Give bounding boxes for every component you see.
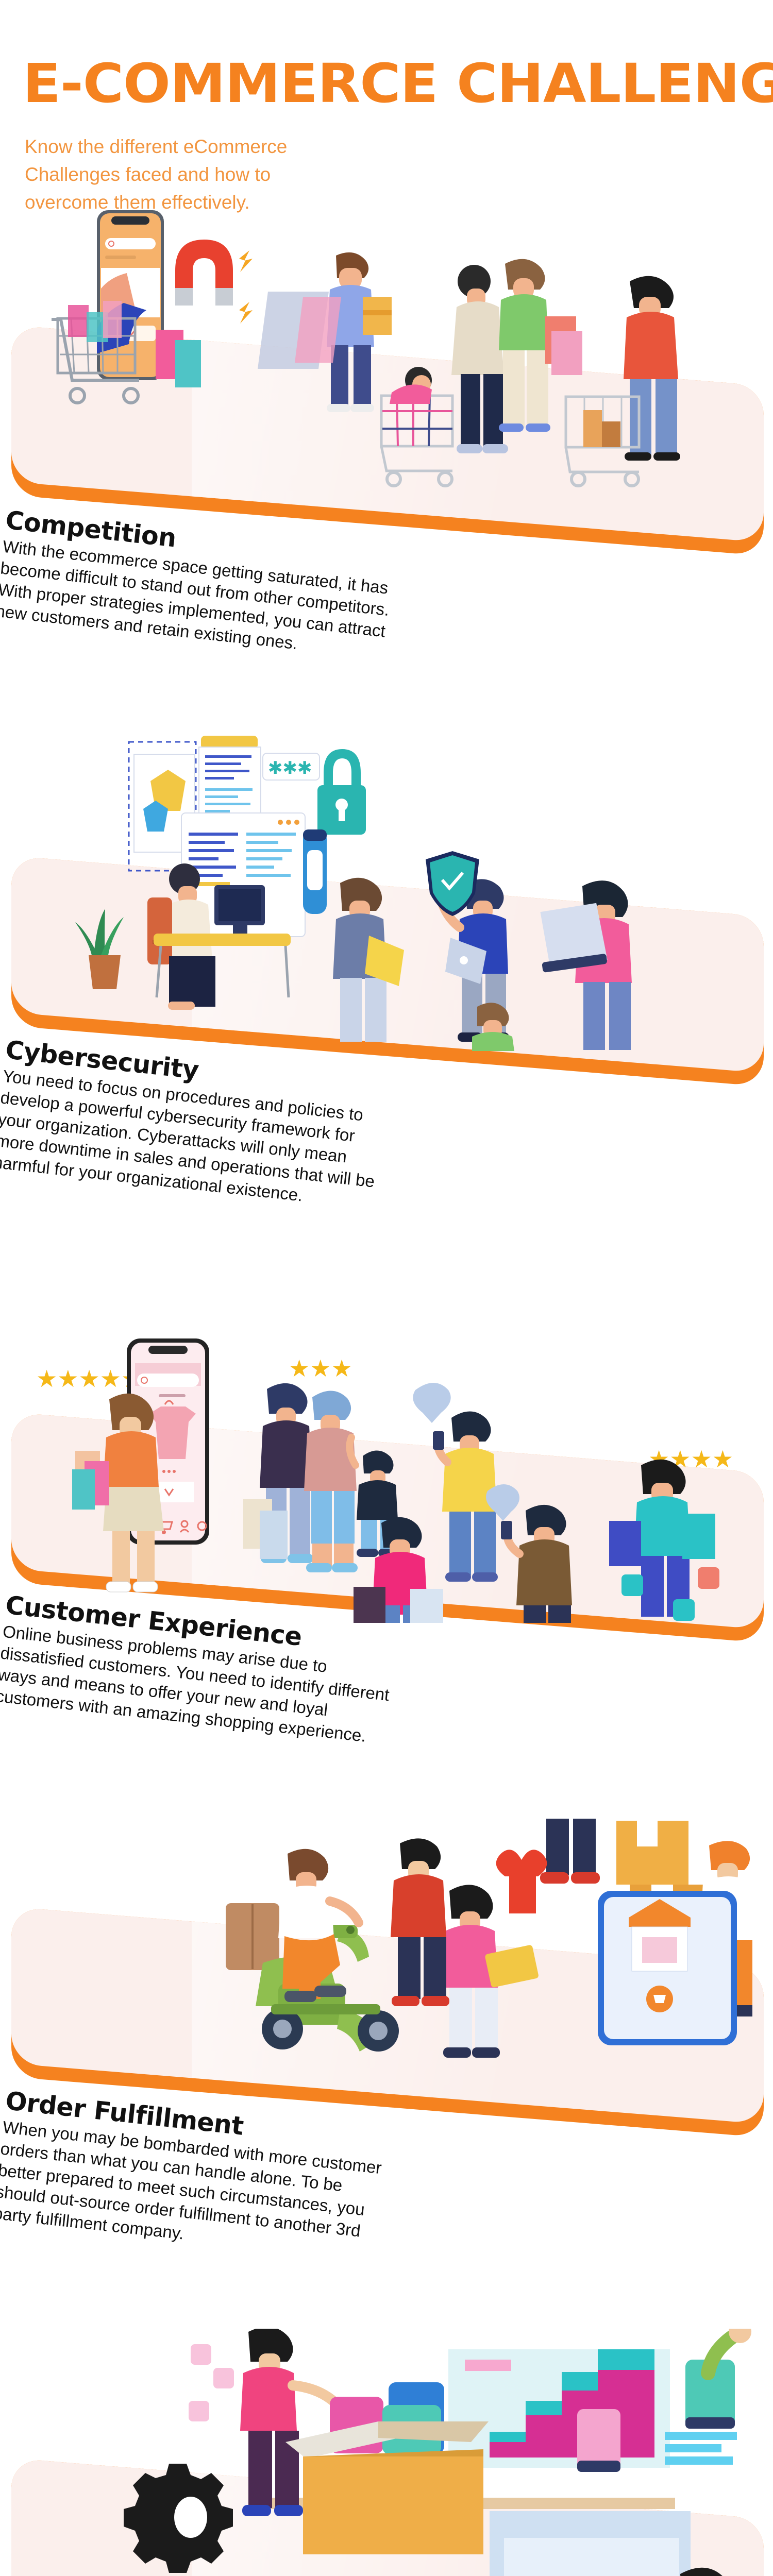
illustration-cybersecurity: ✱✱✱ xyxy=(21,732,752,1051)
person-woman-orange-cart xyxy=(566,276,680,486)
illustration-order-fulfillment xyxy=(21,1808,752,2117)
person-man-yellow xyxy=(413,1383,498,1582)
person-man-brown xyxy=(486,1484,572,1623)
person-woman-green xyxy=(499,259,582,432)
gear-icon xyxy=(124,2464,233,2573)
padlock-icon xyxy=(317,749,366,835)
magnet-icon xyxy=(175,240,253,324)
mobile-store-screen xyxy=(598,1891,737,2045)
scooter-delivery xyxy=(226,1849,399,2052)
person-man-with-parcel xyxy=(258,252,392,412)
display-panels xyxy=(490,2511,691,2576)
svg-text:★★★: ★★★ xyxy=(289,1354,352,1382)
illustration-competition xyxy=(21,191,752,520)
illustration-visibility xyxy=(21,2329,752,2576)
infographic-page: E-COMMERCE CHALLENGES Know the different… xyxy=(0,0,773,2576)
svg-text:✱✱✱: ✱✱✱ xyxy=(268,758,312,778)
person-woman-folder xyxy=(333,878,404,1042)
plant xyxy=(75,909,124,989)
decorative-squares xyxy=(189,2344,234,2421)
gift-ribbon xyxy=(496,1850,547,1913)
section-competition: Competition With the ecommerce space get… xyxy=(0,506,397,664)
person-man-boxes xyxy=(391,1838,449,2006)
password-dots: ✱✱✱ xyxy=(268,758,312,778)
person-with-parcel xyxy=(540,1819,600,1884)
person-woman-bags xyxy=(72,1394,164,1592)
star-rating-five: ★★★★★ xyxy=(36,1365,142,1393)
person-woman-beige xyxy=(451,265,508,453)
page-title: E-COMMERCE CHALLENGES xyxy=(23,56,773,111)
family-walking xyxy=(243,1383,400,1572)
star-rating-three: ★★★ xyxy=(289,1354,352,1382)
illustration-customer-experience: ★★★★★ ★★★ ★★★★ xyxy=(21,1319,752,1623)
child-in-cart xyxy=(381,367,452,486)
section-cybersecurity: Cybersecurity You need to focus on proce… xyxy=(0,1036,397,1215)
svg-text:★★★★★: ★★★★★ xyxy=(36,1365,142,1393)
shopping-bags xyxy=(156,330,201,387)
person-woman-teal xyxy=(609,1460,719,1621)
person-woman-laptop xyxy=(540,880,632,1050)
